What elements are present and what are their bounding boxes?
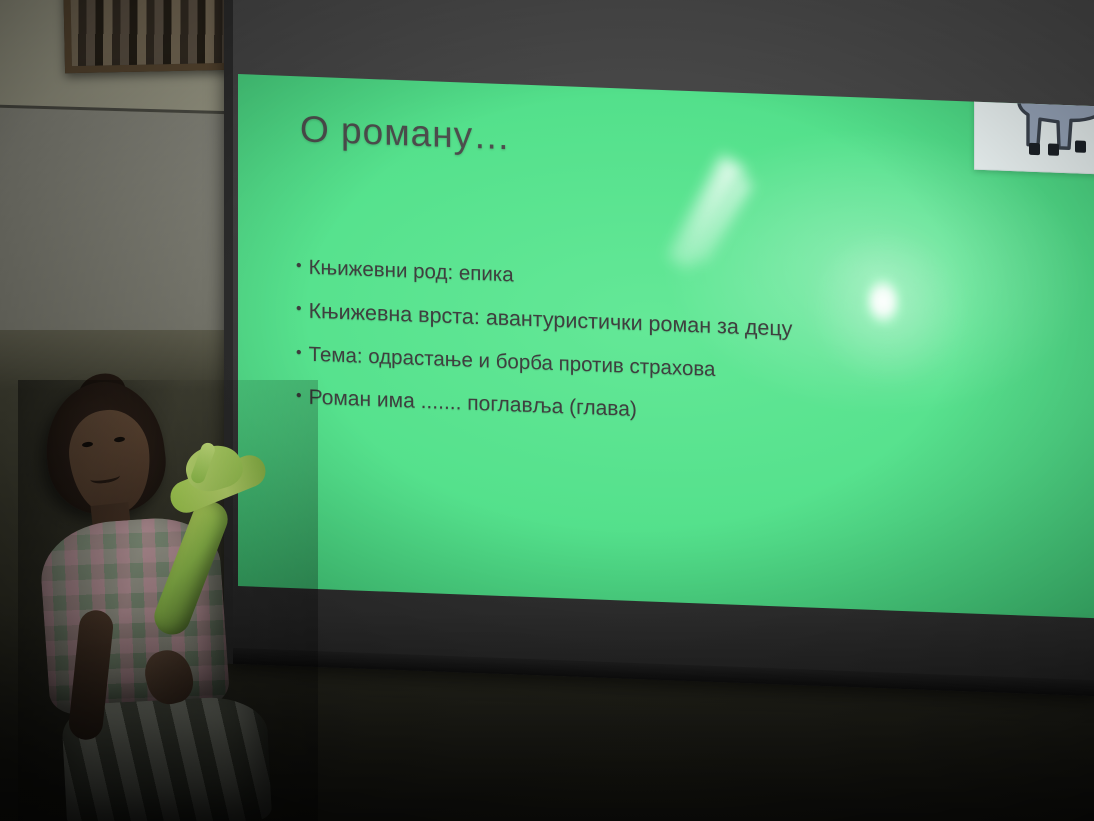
bullet-text: Књижевни род: епика <box>309 255 514 288</box>
bullet-marker-icon: • <box>296 254 302 278</box>
bullet-text: Роман има ....... поглавља (глава) <box>309 385 637 423</box>
slide-bullet-item: • Књижевна врста: авантуристички роман з… <box>296 297 1056 352</box>
slide-title: О роману… <box>300 108 511 158</box>
student-presenter <box>18 380 318 821</box>
bullet-marker-icon: • <box>296 297 302 321</box>
slide-bullet-list: • Књижевни род: епика • Књижевна врста: … <box>296 254 1056 456</box>
projection-screen-assembly: О роману… • Књижевни род: епика • Књижев… <box>224 0 1094 696</box>
bullet-text: Тема: одрастање и борба против страхова <box>309 342 716 382</box>
bullet-text: Књижевна врста: авантуристички роман за … <box>309 298 793 342</box>
slide-bullet-item: • Тема: одрастање и борба против страхов… <box>296 341 1056 395</box>
bullet-marker-icon: • <box>296 341 302 365</box>
classroom-photo: НАУЧНИ ШОУ О роману… • Књижевни род: епи… <box>0 0 1094 821</box>
projected-slide: О роману… • Књижевни род: епика • Књижев… <box>238 74 1094 618</box>
slide-bullet-item: • Роман има ....... поглавља (глава) <box>296 384 1056 438</box>
